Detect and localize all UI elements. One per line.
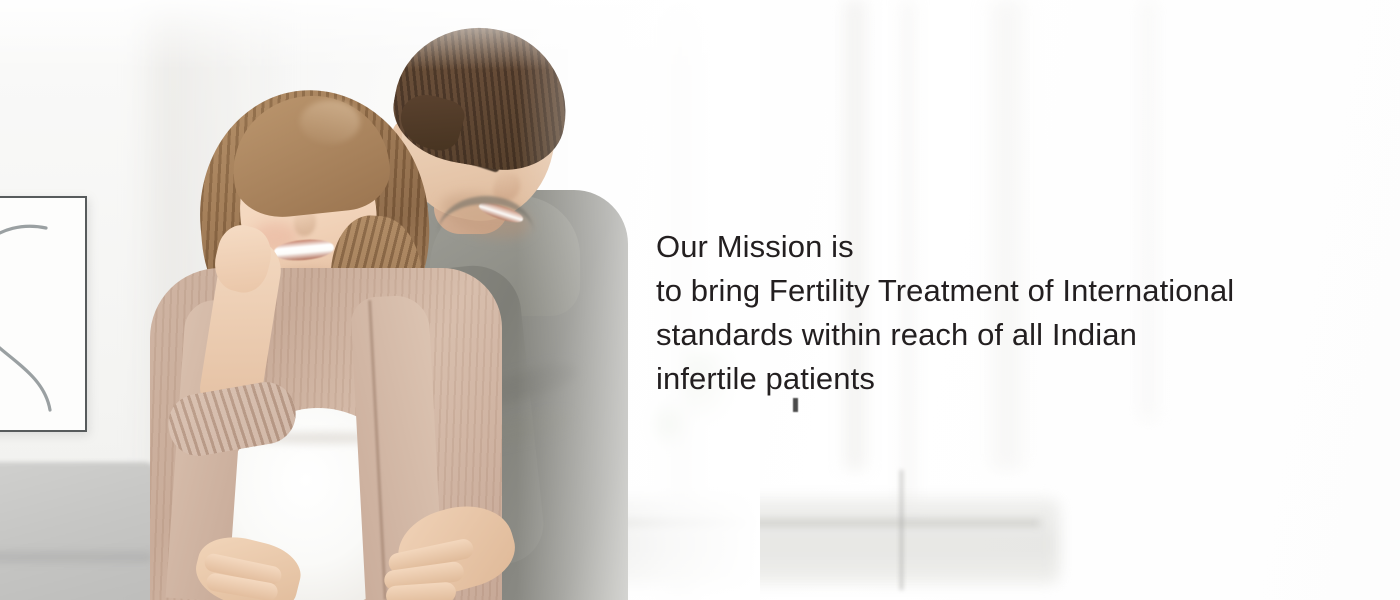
mission-banner: Our Mission is to bring Fertility Treatm… (0, 0, 1400, 600)
mission-line-2: to bring Fertility Treatment of Internat… (656, 269, 1376, 313)
mission-statement: Our Mission is to bring Fertility Treatm… (656, 225, 1376, 401)
mission-line-4: infertile patients (656, 357, 1376, 401)
photo-top-fade (0, 0, 760, 70)
blurred-furniture-leg (900, 470, 903, 590)
mission-line-1: Our Mission is (656, 225, 1376, 269)
couple-photo (0, 0, 700, 600)
woman-hair-highlight (300, 100, 360, 144)
mission-line-3: standards within reach of all Indian (656, 313, 1376, 357)
